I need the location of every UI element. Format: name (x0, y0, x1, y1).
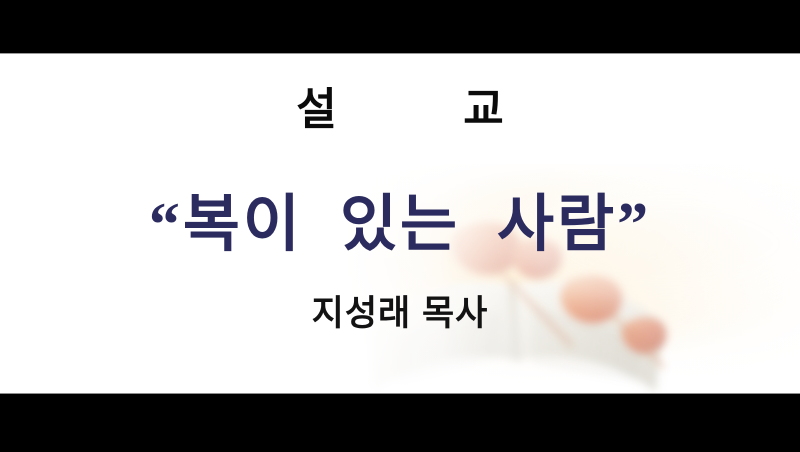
speaker-name: 지성래 목사 (0, 296, 800, 331)
letterbox-bar-bottom (0, 394, 800, 452)
sermon-title: “복이 있는 사람” (0, 193, 800, 258)
video-frame: 설 교 “복이 있는 사람” 지성래 목사 (0, 0, 800, 452)
letterbox-bar-top (0, 0, 800, 53)
slide-text-content: 설 교 “복이 있는 사람” 지성래 목사 (0, 53, 800, 394)
open-bible-autumn-leaves-artwork (340, 164, 800, 394)
sermon-slide: 설 교 “복이 있는 사람” 지성래 목사 (0, 53, 800, 394)
sermon-label: 설 교 (0, 88, 800, 132)
